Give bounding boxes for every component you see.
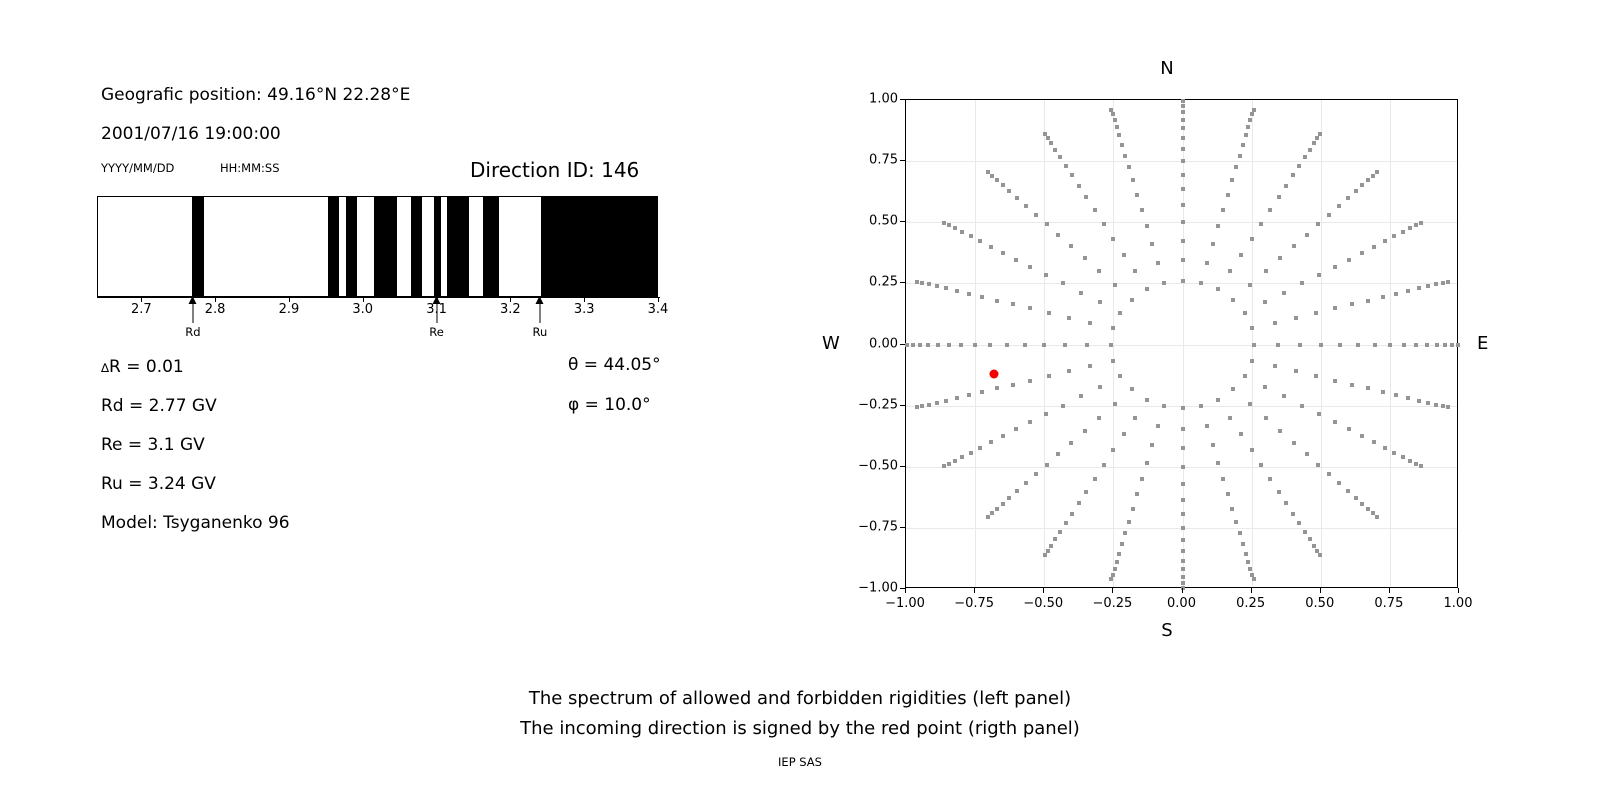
- direction-point: [1234, 165, 1238, 169]
- direction-point: [1043, 132, 1047, 136]
- y-axis-tick-label: 0.25: [838, 275, 898, 290]
- direction-point: [1244, 552, 1248, 556]
- allowed-rigidity-band: [447, 197, 469, 296]
- direction-point: [1181, 147, 1185, 151]
- direction-point: [1079, 291, 1083, 295]
- caption-line-2: The incoming direction is signed by the …: [0, 718, 1600, 739]
- direction-point: [1346, 196, 1350, 200]
- y-axis-tick-label: −0.25: [838, 397, 898, 412]
- direction-point: [1181, 559, 1185, 563]
- direction-point: [1181, 581, 1185, 585]
- direction-point: [1216, 461, 1220, 465]
- direction-point: [1199, 404, 1203, 408]
- direction-point: [1375, 515, 1379, 519]
- direction-point: [1049, 544, 1053, 548]
- direction-point: [1216, 287, 1220, 291]
- direction-point: [1097, 269, 1101, 273]
- direction-point: [1097, 416, 1101, 420]
- direction-point: [1264, 269, 1268, 273]
- direction-point: [1401, 455, 1405, 459]
- direction-point: [1061, 404, 1065, 408]
- direction-point: [1115, 125, 1119, 129]
- direction-point: [1070, 512, 1074, 516]
- direction-point: [1231, 298, 1235, 302]
- direction-point: [1216, 224, 1220, 228]
- direction-point: [1007, 189, 1011, 193]
- y-axis-tick-label: 1.00: [838, 92, 898, 107]
- direction-point: [1312, 544, 1316, 548]
- x-axis-tick-mark: [1182, 588, 1183, 593]
- direction-point: [1246, 560, 1250, 564]
- x-axis-tick-label: −1.00: [885, 596, 925, 611]
- direction-point: [1034, 472, 1038, 476]
- direction-point: [1181, 159, 1185, 163]
- direction-point: [1109, 343, 1113, 347]
- direction-point: [1181, 126, 1185, 130]
- direction-point: [1234, 520, 1238, 524]
- direction-point: [1228, 269, 1232, 273]
- x-axis-tick-label: 1.00: [1444, 596, 1473, 611]
- direction-point: [1115, 560, 1119, 564]
- direction-point: [1356, 343, 1360, 347]
- direction-point: [1123, 154, 1127, 158]
- direction-point: [1216, 398, 1220, 402]
- direction-point: [1294, 316, 1298, 320]
- direction-point: [1181, 110, 1185, 114]
- cutoff-marker-arrow-rd: [192, 297, 193, 323]
- direction-point: [935, 284, 939, 288]
- direction-point: [1419, 464, 1423, 468]
- direction-point: [1239, 253, 1243, 257]
- direction-point: [1069, 441, 1073, 445]
- direction-point: [1327, 213, 1331, 217]
- direction-point: [990, 174, 994, 178]
- direction-point: [1277, 490, 1281, 494]
- direction-point: [1181, 575, 1185, 579]
- direction-point: [1162, 281, 1166, 285]
- direction-point: [995, 507, 999, 511]
- direction-point: [1434, 403, 1438, 407]
- direction-point: [1181, 104, 1185, 108]
- direction-point: [986, 515, 990, 519]
- direction-point: [1414, 462, 1418, 466]
- direction-point: [1028, 265, 1032, 269]
- direction-point: [1246, 125, 1250, 129]
- direction-point: [1406, 396, 1410, 400]
- direction-point: [1049, 141, 1053, 145]
- direction-point: [1199, 281, 1203, 285]
- direction-point: [1058, 155, 1062, 159]
- direction-point: [1113, 283, 1117, 287]
- direction-point: [920, 404, 924, 408]
- direction-point: [1088, 364, 1092, 368]
- direction-point: [935, 401, 939, 405]
- spectrum-axis-tick-label: 3.2: [500, 302, 521, 317]
- rigidity-spectrum-bar: [97, 196, 658, 297]
- direction-point: [1053, 148, 1057, 152]
- direction-point: [1319, 343, 1323, 347]
- direction-point: [969, 234, 973, 238]
- direction-point: [1067, 316, 1071, 320]
- direction-point: [1371, 174, 1375, 178]
- direction-point: [1135, 492, 1139, 496]
- direction-point: [1419, 221, 1423, 225]
- direction-point: [1028, 379, 1032, 383]
- direction-point: [1044, 273, 1048, 277]
- direction-point: [1434, 282, 1438, 286]
- spectrum-axis-tick-label: 3.0: [352, 302, 373, 317]
- direction-point: [1314, 311, 1318, 315]
- direction-point: [1133, 416, 1137, 420]
- direction-point: [1264, 416, 1268, 420]
- direction-point: [1181, 465, 1185, 469]
- direction-point: [1133, 269, 1137, 273]
- direction-point: [1238, 154, 1242, 158]
- direction-point: [980, 295, 984, 299]
- direction-point: [1291, 173, 1295, 177]
- direction-point: [1047, 311, 1051, 315]
- direction-point: [1414, 343, 1418, 347]
- direction-point: [905, 343, 909, 347]
- direction-point: [980, 390, 984, 394]
- x-axis-tick-label: 0.75: [1374, 596, 1403, 611]
- direction-point: [1181, 173, 1185, 177]
- y-axis-tick-mark: [900, 221, 905, 222]
- direction-point: [960, 455, 964, 459]
- spectrum-bar-container: [97, 196, 658, 297]
- direction-point: [1230, 507, 1234, 511]
- direction-point: [1205, 424, 1209, 428]
- direction-point: [1282, 394, 1286, 398]
- direction-point: [1241, 542, 1245, 546]
- direction-point: [1007, 496, 1011, 500]
- direction-point: [1102, 222, 1106, 226]
- direction-point: [1268, 208, 1272, 212]
- direction-point: [1292, 441, 1296, 445]
- direction-point: [1109, 108, 1113, 112]
- direction-point: [1156, 424, 1160, 428]
- direction-point: [1181, 498, 1185, 502]
- direction-point: [1053, 537, 1057, 541]
- direction-point: [953, 459, 957, 463]
- allowed-rigidity-band: [192, 197, 203, 296]
- direction-point: [1005, 343, 1009, 347]
- direction-point: [1098, 385, 1102, 389]
- spectrum-x-axis: [97, 297, 660, 298]
- date-format-hint: YYYY/MM/DD: [101, 161, 174, 175]
- direction-point: [1354, 496, 1358, 500]
- cutoff-marker-label-ru: Ru: [533, 325, 548, 339]
- spectrum-axis-tick-label: 2.8: [205, 302, 226, 317]
- direction-point: [942, 464, 946, 468]
- direction-point: [1278, 429, 1282, 433]
- direction-point: [927, 282, 931, 286]
- direction-point: [1181, 567, 1185, 571]
- direction-point: [1064, 164, 1068, 168]
- direction-point: [1150, 443, 1154, 447]
- x-axis-tick-label: −0.75: [954, 596, 994, 611]
- direction-point: [947, 343, 951, 347]
- direction-point: [1111, 573, 1115, 577]
- allowed-rigidity-band: [483, 197, 499, 296]
- direction-point: [1085, 343, 1089, 347]
- direction-point: [1248, 118, 1252, 122]
- y-axis-tick-mark: [900, 344, 905, 345]
- direction-point: [926, 343, 930, 347]
- direction-point: [1230, 178, 1234, 182]
- direction-point: [920, 281, 924, 285]
- direction-point: [1181, 406, 1185, 410]
- direction-point: [1381, 295, 1385, 299]
- direction-point: [995, 178, 999, 182]
- direction-point: [1314, 374, 1318, 378]
- direction-point: [1015, 489, 1019, 493]
- cutoff-marker-arrow-re: [436, 297, 437, 323]
- direction-point: [1102, 463, 1106, 467]
- datetime-label: 2001/07/16 19:00:00: [101, 124, 281, 144]
- cutoff-marker-label-rd: Rd: [185, 325, 200, 339]
- direction-point: [1239, 432, 1243, 436]
- direction-point: [1140, 477, 1144, 481]
- y-axis-tick-mark: [900, 160, 905, 161]
- direction-point: [1181, 220, 1185, 224]
- direction-point: [1063, 343, 1067, 347]
- direction-point: [1131, 178, 1135, 182]
- cutoff-marker-arrow-ru: [539, 297, 540, 323]
- direction-point: [1383, 239, 1387, 243]
- direction-point: [1145, 287, 1149, 291]
- direction-point: [1145, 398, 1149, 402]
- direction-point: [947, 462, 951, 466]
- direction-point: [1252, 343, 1256, 347]
- direction-point: [1250, 573, 1254, 577]
- direction-point: [1067, 369, 1071, 373]
- direction-point: [1250, 112, 1254, 116]
- direction-point: [1347, 427, 1351, 431]
- x-axis-tick-label: −0.25: [1092, 596, 1132, 611]
- direction-point: [1318, 132, 1322, 136]
- direction-point: [969, 451, 973, 455]
- direction-point: [1150, 242, 1154, 246]
- direction-point: [1083, 256, 1087, 260]
- compass-west-label: W: [822, 333, 840, 354]
- direction-point: [947, 223, 951, 227]
- param-ru: Ru = 3.24 GV: [101, 474, 216, 494]
- direction-point: [1044, 412, 1048, 416]
- direction-point: [1127, 520, 1131, 524]
- allowed-rigidity-band: [374, 197, 397, 296]
- delta-symbol: ∆: [101, 361, 109, 375]
- direction-point: [1118, 374, 1122, 378]
- direction-point: [1042, 343, 1046, 347]
- direction-point: [1211, 242, 1215, 246]
- allowed-rigidity-band: [328, 197, 339, 296]
- direction-point: [1338, 343, 1342, 347]
- direction-point: [1113, 118, 1117, 122]
- direction-point: [1388, 343, 1392, 347]
- direction-point: [1069, 244, 1073, 248]
- direction-point: [1111, 112, 1115, 116]
- param-phi: φ = 10.0°: [568, 395, 651, 415]
- direction-point: [1181, 136, 1185, 140]
- direction-point: [1318, 553, 1322, 557]
- direction-point: [1024, 204, 1028, 208]
- direction-point: [1366, 386, 1370, 390]
- direction-point: [1056, 233, 1060, 237]
- direction-point: [1181, 203, 1185, 207]
- direction-point: [1084, 490, 1088, 494]
- direction-point: [1316, 222, 1320, 226]
- selected-direction-point[interactable]: [990, 369, 999, 378]
- direction-point: [1113, 402, 1117, 406]
- direction-point: [1181, 538, 1185, 542]
- y-axis-tick-label: −1.00: [838, 581, 898, 596]
- direction-point: [1145, 461, 1149, 465]
- direction-point: [955, 289, 959, 293]
- direction-point: [1228, 416, 1232, 420]
- direction-id-label: Direction ID: 146: [470, 158, 639, 182]
- direction-point: [960, 230, 964, 234]
- direction-point: [1250, 448, 1254, 452]
- direction-point: [1181, 549, 1185, 553]
- y-axis-tick-mark: [900, 282, 905, 283]
- direction-point: [1001, 251, 1005, 255]
- allowed-rigidity-band: [346, 197, 357, 296]
- direction-point: [1221, 477, 1225, 481]
- spectrum-axis-tick-label: 2.9: [279, 302, 300, 317]
- direction-point: [967, 393, 971, 397]
- direction-point: [1406, 289, 1410, 293]
- allowed-rigidity-band: [541, 197, 658, 296]
- direction-point: [1014, 258, 1018, 262]
- direction-point: [915, 280, 919, 284]
- direction-point: [1034, 213, 1038, 217]
- direction-point: [1297, 164, 1301, 168]
- direction-point: [1441, 281, 1445, 285]
- x-axis-tick-mark: [1320, 588, 1321, 593]
- direction-point: [1441, 404, 1445, 408]
- direction-point: [955, 396, 959, 400]
- direction-point: [1426, 401, 1430, 405]
- direction-point: [1140, 208, 1144, 212]
- direction-point: [1259, 222, 1263, 226]
- y-axis-tick-label: 0.75: [838, 153, 898, 168]
- direction-point: [973, 343, 977, 347]
- direction-point: [1181, 99, 1185, 103]
- direction-point: [1456, 343, 1460, 347]
- direction-point: [915, 405, 919, 409]
- direction-point: [1383, 446, 1387, 450]
- spectrum-axis-tick-label: 2.7: [131, 302, 152, 317]
- direction-point: [942, 221, 946, 225]
- allowed-rigidity-band: [411, 197, 422, 296]
- param-delta-r: ∆R = 0.01: [101, 357, 184, 377]
- direction-point: [1181, 512, 1185, 516]
- direction-point: [1181, 526, 1185, 530]
- y-axis-tick-label: −0.50: [838, 458, 898, 473]
- direction-point: [1123, 531, 1127, 535]
- param-model: Model: Tsyganenko 96: [101, 513, 290, 533]
- direction-point: [1259, 463, 1263, 467]
- y-axis-tick-label: 0.50: [838, 214, 898, 229]
- direction-point: [1226, 492, 1230, 496]
- direction-point: [1238, 531, 1242, 535]
- direction-point: [1127, 165, 1131, 169]
- direction-point: [1425, 343, 1429, 347]
- direction-point: [1284, 184, 1288, 188]
- direction-point: [1372, 440, 1376, 444]
- gridline-vertical: [1113, 100, 1114, 587]
- direction-point: [1250, 237, 1254, 241]
- direction-point: [911, 343, 915, 347]
- direction-point: [1079, 394, 1083, 398]
- compass-east-label: E: [1477, 333, 1488, 354]
- direction-point: [1284, 501, 1288, 505]
- x-axis-tick-mark: [1043, 588, 1044, 593]
- direction-point: [1381, 390, 1385, 394]
- direction-point: [1317, 273, 1321, 277]
- direction-point: [1446, 280, 1450, 284]
- direction-point: [1292, 244, 1296, 248]
- direction-point: [1300, 404, 1304, 408]
- direction-point: [1417, 399, 1421, 403]
- param-theta: θ = 44.05°: [568, 355, 661, 375]
- direction-point: [1337, 204, 1341, 208]
- direction-point: [1317, 412, 1321, 416]
- direction-point: [1058, 530, 1062, 534]
- direction-point: [1443, 343, 1447, 347]
- direction-point: [1354, 189, 1358, 193]
- direction-point: [918, 343, 922, 347]
- compass-south-label: S: [1161, 620, 1172, 641]
- direction-point: [1111, 237, 1115, 241]
- y-axis-tick-mark: [900, 405, 905, 406]
- direction-point: [1120, 542, 1124, 546]
- direction-point: [1181, 187, 1185, 191]
- direction-point: [1241, 143, 1245, 147]
- caption-line-1: The spectrum of allowed and forbidden ri…: [0, 688, 1600, 709]
- direction-point: [989, 440, 993, 444]
- direction-point: [1118, 311, 1122, 315]
- y-axis-tick-label: 0.00: [838, 336, 898, 351]
- direction-point: [1023, 343, 1027, 347]
- direction-point: [1028, 306, 1032, 310]
- direction-point: [1276, 343, 1280, 347]
- direction-point: [944, 399, 948, 403]
- direction-point: [1024, 481, 1028, 485]
- direction-point: [1083, 429, 1087, 433]
- direction-point: [1084, 195, 1088, 199]
- direction-point: [1294, 369, 1298, 373]
- direction-point: [967, 292, 971, 296]
- direction-point: [1435, 343, 1439, 347]
- rigidity-spectrum-panel: Geografic position: 49.16°N 22.28°E 2001…: [0, 0, 800, 800]
- x-axis-tick-label: 0.25: [1236, 596, 1265, 611]
- direction-point: [1375, 170, 1379, 174]
- x-axis-tick-mark: [1251, 588, 1252, 593]
- direction-point: [1011, 383, 1015, 387]
- direction-point: [1098, 300, 1102, 304]
- direction-point: [1360, 434, 1364, 438]
- direction-point: [1305, 452, 1309, 456]
- direction-point: [1113, 567, 1117, 571]
- direction-point: [927, 403, 931, 407]
- direction-point: [1350, 383, 1354, 387]
- param-re: Re = 3.1 GV: [101, 435, 205, 455]
- direction-point: [1045, 463, 1049, 467]
- param-rd: Rd = 2.77 GV: [101, 396, 217, 416]
- direction-point: [1014, 427, 1018, 431]
